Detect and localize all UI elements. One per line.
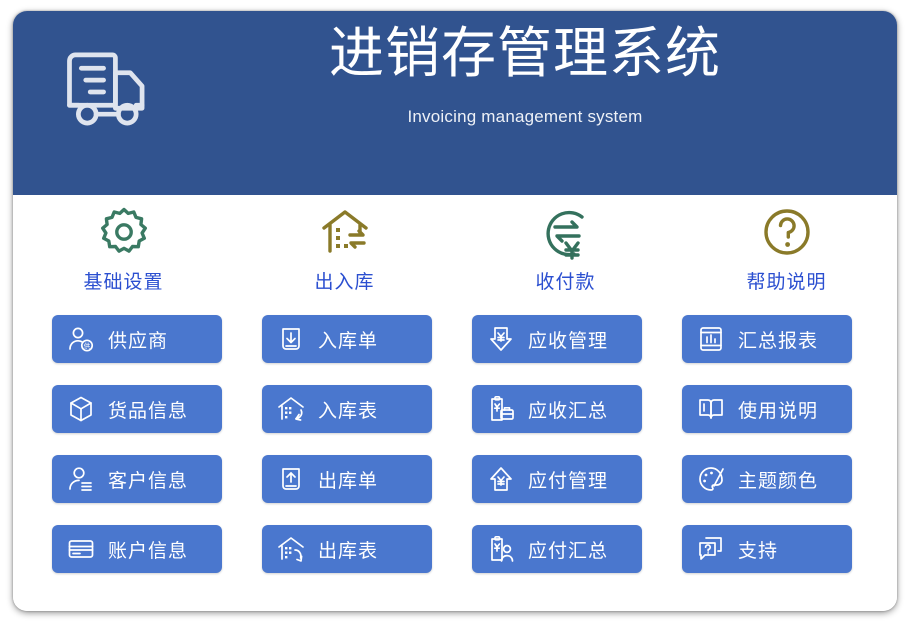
button-inbound-order[interactable]: 入库单 — [262, 315, 432, 363]
app-body: 基础设置 出入库 — [13, 195, 897, 611]
category-label: 收付款 — [535, 267, 595, 294]
header-text-block: 进销存管理系统 Invoicing management system — [173, 23, 877, 127]
cube-box-icon — [66, 394, 96, 424]
bar-chart-report-icon — [696, 324, 726, 354]
credit-card-icon — [66, 534, 96, 564]
button-label: 应收汇总 — [528, 396, 608, 423]
button-payable-management[interactable]: 应付管理 — [472, 455, 642, 503]
button-payable-summary[interactable]: 应付汇总 — [472, 525, 642, 573]
button-label: 应付管理 — [528, 466, 608, 493]
delivery-truck-icon — [60, 49, 156, 129]
receivable-arrow-down-icon — [486, 324, 516, 354]
button-summary-report[interactable]: 汇总报表 — [682, 315, 852, 363]
button-receivable-summary[interactable]: 应收汇总 — [472, 385, 642, 433]
button-label: 入库单 — [318, 326, 378, 353]
payable-clipboard-icon — [486, 534, 516, 564]
button-outbound-table[interactable]: 出库表 — [262, 525, 432, 573]
category-label: 基础设置 — [83, 267, 163, 294]
button-support[interactable]: 支持 — [682, 525, 852, 573]
button-theme-color[interactable]: 主题颜色 — [682, 455, 852, 503]
application-window: 进销存管理系统 Invoicing management system 基础设置 — [13, 11, 897, 611]
category-payments[interactable]: 收付款 — [455, 203, 676, 311]
category-basic-settings[interactable]: 基础设置 — [13, 203, 234, 311]
category-label: 帮助说明 — [746, 267, 826, 294]
button-label: 账户信息 — [108, 536, 188, 563]
category-help[interactable]: 帮助说明 — [676, 203, 897, 311]
gear-icon — [95, 203, 153, 261]
open-book-icon — [696, 394, 726, 424]
app-subtitle: Invoicing management system — [173, 107, 877, 127]
outbound-warehouse-icon — [276, 534, 306, 564]
currency-exchange-icon — [537, 203, 595, 261]
button-account-info[interactable]: 账户信息 — [52, 525, 222, 573]
button-label: 汇总报表 — [738, 326, 818, 353]
question-circle-icon — [758, 203, 816, 261]
payable-arrow-up-icon — [486, 464, 516, 494]
category-row: 基础设置 出入库 — [13, 203, 897, 311]
app-header: 进销存管理系统 Invoicing management system — [13, 11, 897, 195]
button-label: 使用说明 — [738, 396, 818, 423]
button-label: 供应商 — [108, 326, 168, 353]
button-label: 入库表 — [318, 396, 378, 423]
palette-icon — [696, 464, 726, 494]
inbound-warehouse-icon — [276, 394, 306, 424]
feature-button-grid: 供 供应商 入库单 — [52, 315, 858, 573]
button-label: 出库单 — [318, 466, 378, 493]
button-label: 主题颜色 — [738, 466, 818, 493]
button-instructions[interactable]: 使用说明 — [682, 385, 852, 433]
button-inbound-table[interactable]: 入库表 — [262, 385, 432, 433]
button-receivable-management[interactable]: 应收管理 — [472, 315, 642, 363]
supplier-person-icon: 供 — [66, 324, 96, 354]
button-label: 应付汇总 — [528, 536, 608, 563]
customer-person-icon — [66, 464, 96, 494]
button-outbound-order[interactable]: 出库单 — [262, 455, 432, 503]
svg-text:供: 供 — [84, 341, 91, 350]
app-title: 进销存管理系统 — [173, 23, 877, 85]
button-label: 出库表 — [318, 536, 378, 563]
button-label: 货品信息 — [108, 396, 188, 423]
button-customer-info[interactable]: 客户信息 — [52, 455, 222, 503]
category-label: 出入库 — [314, 267, 374, 294]
category-inbound-outbound[interactable]: 出入库 — [234, 203, 455, 311]
receivable-clipboard-icon — [486, 394, 516, 424]
button-label: 支持 — [738, 536, 778, 563]
outbound-order-icon — [276, 464, 306, 494]
button-label: 应收管理 — [528, 326, 608, 353]
button-label: 客户信息 — [108, 466, 188, 493]
button-supplier[interactable]: 供 供应商 — [52, 315, 222, 363]
button-goods-info[interactable]: 货品信息 — [52, 385, 222, 433]
inbound-order-icon — [276, 324, 306, 354]
warehouse-exchange-icon — [316, 203, 374, 261]
support-chat-icon — [696, 534, 726, 564]
